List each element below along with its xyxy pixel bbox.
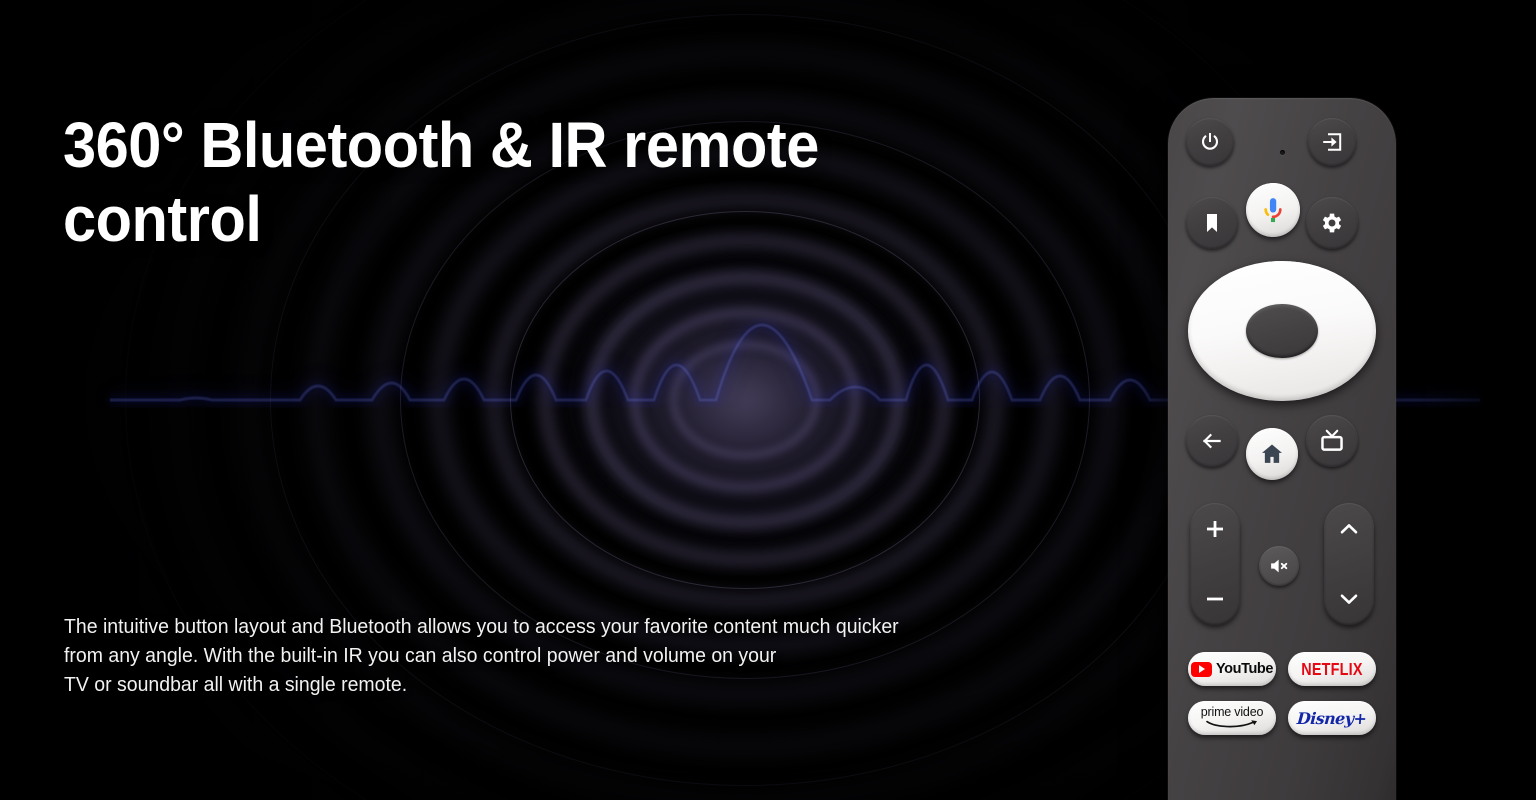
input-arrow-icon [1320,130,1344,154]
prime-video-label: prime video [1201,706,1263,719]
description-paragraph: The intuitive button layout and Bluetoot… [64,612,1071,699]
youtube-play-icon [1191,662,1212,677]
google-assistant-mic-icon [1256,193,1290,227]
channel-down-button[interactable] [1324,587,1374,611]
dpad-ring[interactable] [1188,261,1376,401]
power-button[interactable] [1186,118,1234,166]
netflix-shortcut-button[interactable]: NETFLIX [1288,652,1376,686]
microphone-hole-icon [1280,150,1285,155]
power-icon [1198,130,1222,154]
tv-antenna-icon [1319,428,1345,454]
promo-banner: 360° Bluetooth & IR remote control The i… [0,0,1536,800]
mute-button[interactable] [1259,546,1299,586]
youtube-shortcut-button[interactable]: YouTube [1188,652,1276,686]
channel-rocker[interactable] [1324,503,1374,625]
home-icon [1259,441,1285,467]
bookmark-button[interactable] [1186,197,1238,249]
live-tv-button[interactable] [1306,415,1358,467]
prime-video-shortcut-button[interactable]: prime video [1188,701,1276,735]
volume-up-button[interactable] [1190,517,1240,541]
youtube-label: YouTube [1216,661,1273,677]
channel-up-button[interactable] [1324,517,1374,541]
volume-down-button[interactable] [1190,587,1240,611]
page-title: 360° Bluetooth & IR remote control [63,108,881,256]
plus-icon [1203,517,1227,541]
speaker-mute-icon [1268,555,1290,577]
volume-rocker[interactable] [1190,503,1240,625]
minus-icon [1203,587,1227,611]
disney-plus-label: Disney+ [1297,709,1368,728]
disney-plus-shortcut-button[interactable]: Disney+ [1288,701,1376,735]
ok-select-button[interactable] [1246,304,1318,358]
remote-control-device: YouTube NETFLIX prime video Disney+ [1168,98,1396,800]
back-arrow-icon [1199,428,1225,454]
chevron-up-icon [1337,517,1361,541]
input-source-button[interactable] [1308,118,1356,166]
bookmark-icon [1200,211,1224,235]
google-assistant-button[interactable] [1246,183,1300,237]
chevron-down-icon [1337,587,1361,611]
home-button[interactable] [1246,428,1298,480]
netflix-label: NETFLIX [1301,659,1362,679]
settings-button[interactable] [1306,197,1358,249]
amazon-smile-icon [1204,719,1260,730]
gear-icon [1319,210,1345,236]
back-button[interactable] [1186,415,1238,467]
